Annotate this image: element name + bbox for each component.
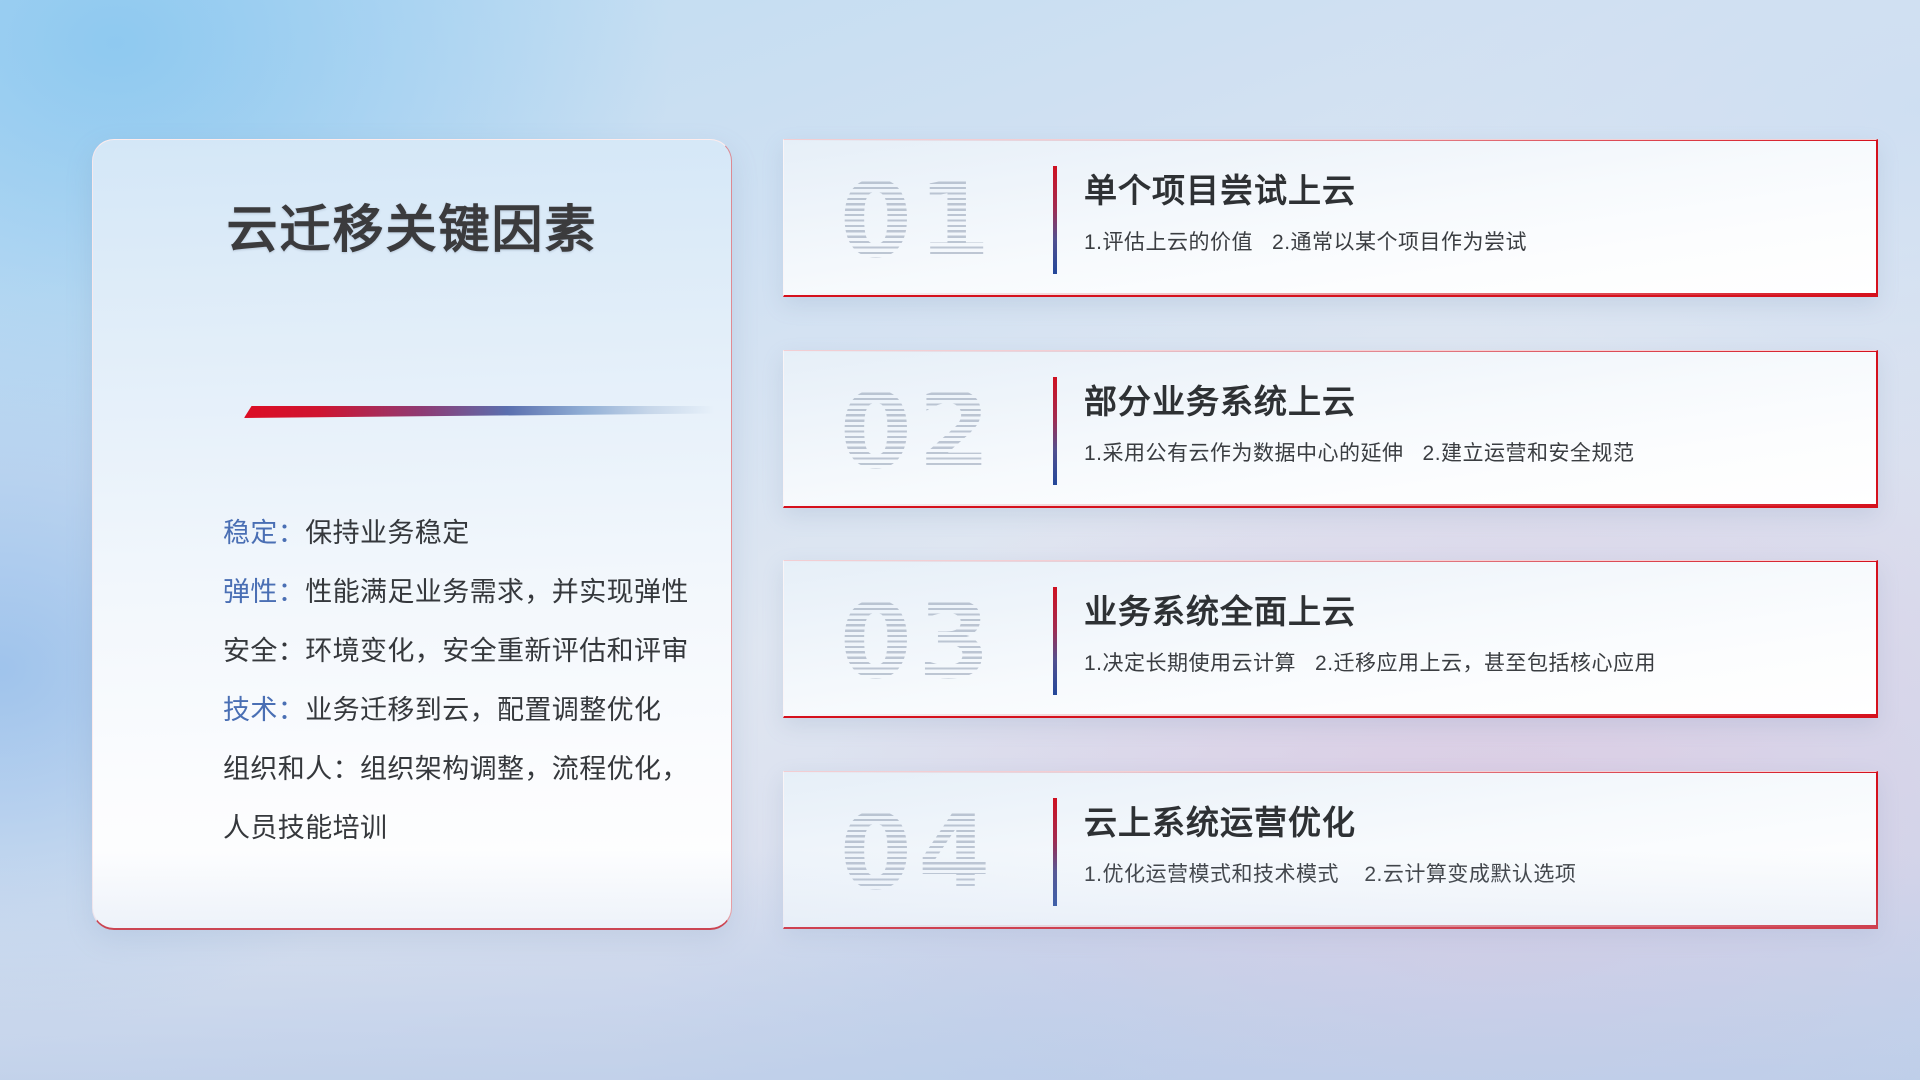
key-factors-panel: 云迁移关键因素 稳定：保持业务稳定 弹性：性能满足业务需求，并实现弹性 安全：环… <box>92 139 732 930</box>
stage-number-watermark: 01 <box>818 160 1018 280</box>
stage-card[interactable]: 04 云上系统运营优化 1.优化运营模式和技术模式 2.云计算变成默认选项 <box>783 771 1878 929</box>
stage-subtitle: 1.采用公有云作为数据中心的延伸 2.建立运营和安全规范 <box>1084 437 1635 467</box>
stage-card[interactable]: 01 单个项目尝试上云 1.评估上云的价值 2.通常以某个项目作为尝试 <box>783 139 1878 297</box>
key-factors-list: 稳定：保持业务稳定 弹性：性能满足业务需求，并实现弹性 安全：环境变化，安全重新… <box>223 520 695 842</box>
list-item: 弹性：性能满足业务需求，并实现弹性 <box>223 579 695 606</box>
stage-title: 单个项目尝试上云 <box>1084 164 1356 212</box>
page-title: 云迁移关键因素 <box>93 188 731 262</box>
stage-subtitle: 1.决定长期使用云计算 2.迁移应用上云，甚至包括核心应用 <box>1084 647 1656 677</box>
stage-subtitle: 1.评估上云的价值 2.通常以某个项目作为尝试 <box>1084 226 1527 256</box>
list-item: 人员技能培训 <box>223 815 695 842</box>
list-item: 技术：业务迁移到云，配置调整优化 <box>223 697 695 724</box>
stage-card[interactable]: 03 业务系统全面上云 1.决定长期使用云计算 2.迁移应用上云，甚至包括核心应… <box>783 560 1878 718</box>
stage-card[interactable]: 02 部分业务系统上云 1.采用公有云作为数据中心的延伸 2.建立运营和安全规范 <box>783 350 1878 508</box>
list-item-text: 环境变化，安全重新评估和评审 <box>305 636 689 666</box>
list-item-key: 弹性： <box>223 577 305 607</box>
list-item-key: 组织和人： <box>223 754 360 784</box>
stage-title: 部分业务系统上云 <box>1084 375 1356 423</box>
stage-accent-bar <box>1053 377 1057 485</box>
stage-accent-bar <box>1053 798 1057 906</box>
list-item-text: 组织架构调整，流程优化， <box>360 754 689 784</box>
stage-number-watermark: 02 <box>818 371 1018 491</box>
stage-title: 云上系统运营优化 <box>1084 796 1356 844</box>
list-item: 组织和人：组织架构调整，流程优化， <box>223 756 695 783</box>
list-item-key: 技术： <box>223 695 305 725</box>
list-item-text: 业务迁移到云，配置调整优化 <box>305 695 661 725</box>
list-item-text: 性能满足业务需求，并实现弹性 <box>305 577 689 607</box>
list-item: 稳定：保持业务稳定 <box>223 520 695 547</box>
list-item-text: 人员技能培训 <box>223 813 387 843</box>
list-item: 安全：环境变化，安全重新评估和评审 <box>223 638 695 665</box>
stage-number-watermark: 04 <box>818 792 1018 912</box>
list-item-key: 安全： <box>223 636 305 666</box>
stage-accent-bar <box>1053 166 1057 274</box>
stage-title: 业务系统全面上云 <box>1084 585 1356 633</box>
title-underline-rule <box>244 406 714 418</box>
stage-number-watermark: 03 <box>818 581 1018 701</box>
list-item-key: 稳定： <box>223 518 305 548</box>
stage-subtitle: 1.优化运营模式和技术模式 2.云计算变成默认选项 <box>1084 858 1576 888</box>
stage-accent-bar <box>1053 587 1057 695</box>
list-item-text: 保持业务稳定 <box>305 518 469 548</box>
slide-canvas: 云迁移关键因素 稳定：保持业务稳定 弹性：性能满足业务需求，并实现弹性 安全：环… <box>0 0 1920 1080</box>
